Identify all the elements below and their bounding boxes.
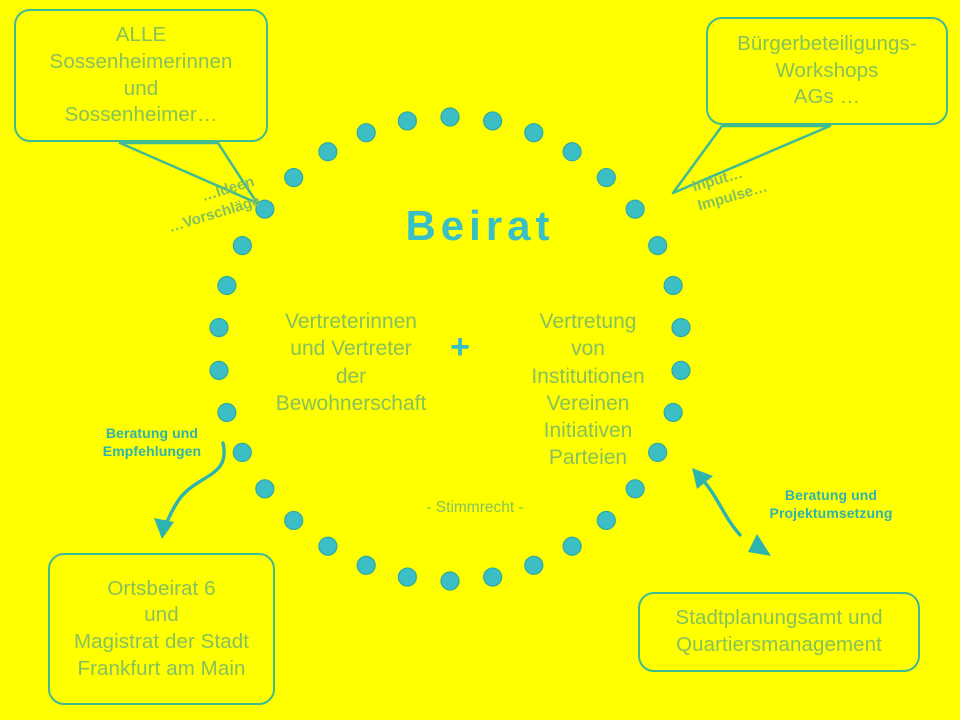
- ring-dot: [398, 112, 416, 130]
- ring-dot: [664, 277, 682, 295]
- voting-rights-note: - Stimmrecht -: [330, 498, 620, 518]
- ring-dot: [210, 319, 228, 337]
- ring-dot: [256, 480, 274, 498]
- ring-dot: [357, 124, 375, 142]
- ring-dot: [319, 537, 337, 555]
- annotation-advice-implementation: Beratung und Projektumsetzung: [742, 486, 920, 522]
- ring-dot: [563, 537, 581, 555]
- speech-bubble-citizens[interactable]: ALLE Sossenheimerinnen und Sossenheimer…: [14, 9, 268, 142]
- page-title-beirat: Beirat: [0, 202, 960, 250]
- ring-dot: [597, 169, 615, 187]
- ring-dot: [484, 568, 502, 586]
- ring-dot: [441, 572, 459, 590]
- ring-dot: [233, 443, 251, 461]
- ring-dot: [218, 403, 236, 421]
- ring-dot: [626, 480, 644, 498]
- ring-dot: [484, 112, 502, 130]
- ring-dot: [210, 361, 228, 379]
- council-members-institutions: Vertretung von Institutionen Vereinen In…: [493, 308, 683, 472]
- speech-bubble-workshops[interactable]: Bürgerbeteiligungs- Workshops AGs …: [706, 17, 948, 125]
- ring-dot: [563, 143, 581, 161]
- ring-dot: [319, 143, 337, 161]
- box-stadtplanungsamt[interactable]: Stadtplanungsamt und Quartiersmanagement: [638, 592, 920, 672]
- ring-dot: [525, 124, 543, 142]
- ring-dot: [441, 108, 459, 126]
- ring-dot: [525, 556, 543, 574]
- ring-dot: [218, 277, 236, 295]
- ring-dot: [285, 169, 303, 187]
- diagram-canvas: ALLE Sossenheimerinnen und Sossenheimer……: [0, 0, 960, 720]
- ring-dot: [398, 568, 416, 586]
- plus-icon: +: [435, 330, 485, 364]
- box-ortsbeirat-magistrat[interactable]: Ortsbeirat 6 und Magistrat der Stadt Fra…: [48, 553, 275, 705]
- ring-dot: [285, 511, 303, 529]
- annotation-advice-recommendations: Beratung und Empfehlungen: [72, 424, 232, 460]
- ring-dot: [357, 556, 375, 574]
- council-members-residents: Vertreterinnen und Vertreter der Bewohne…: [256, 308, 446, 417]
